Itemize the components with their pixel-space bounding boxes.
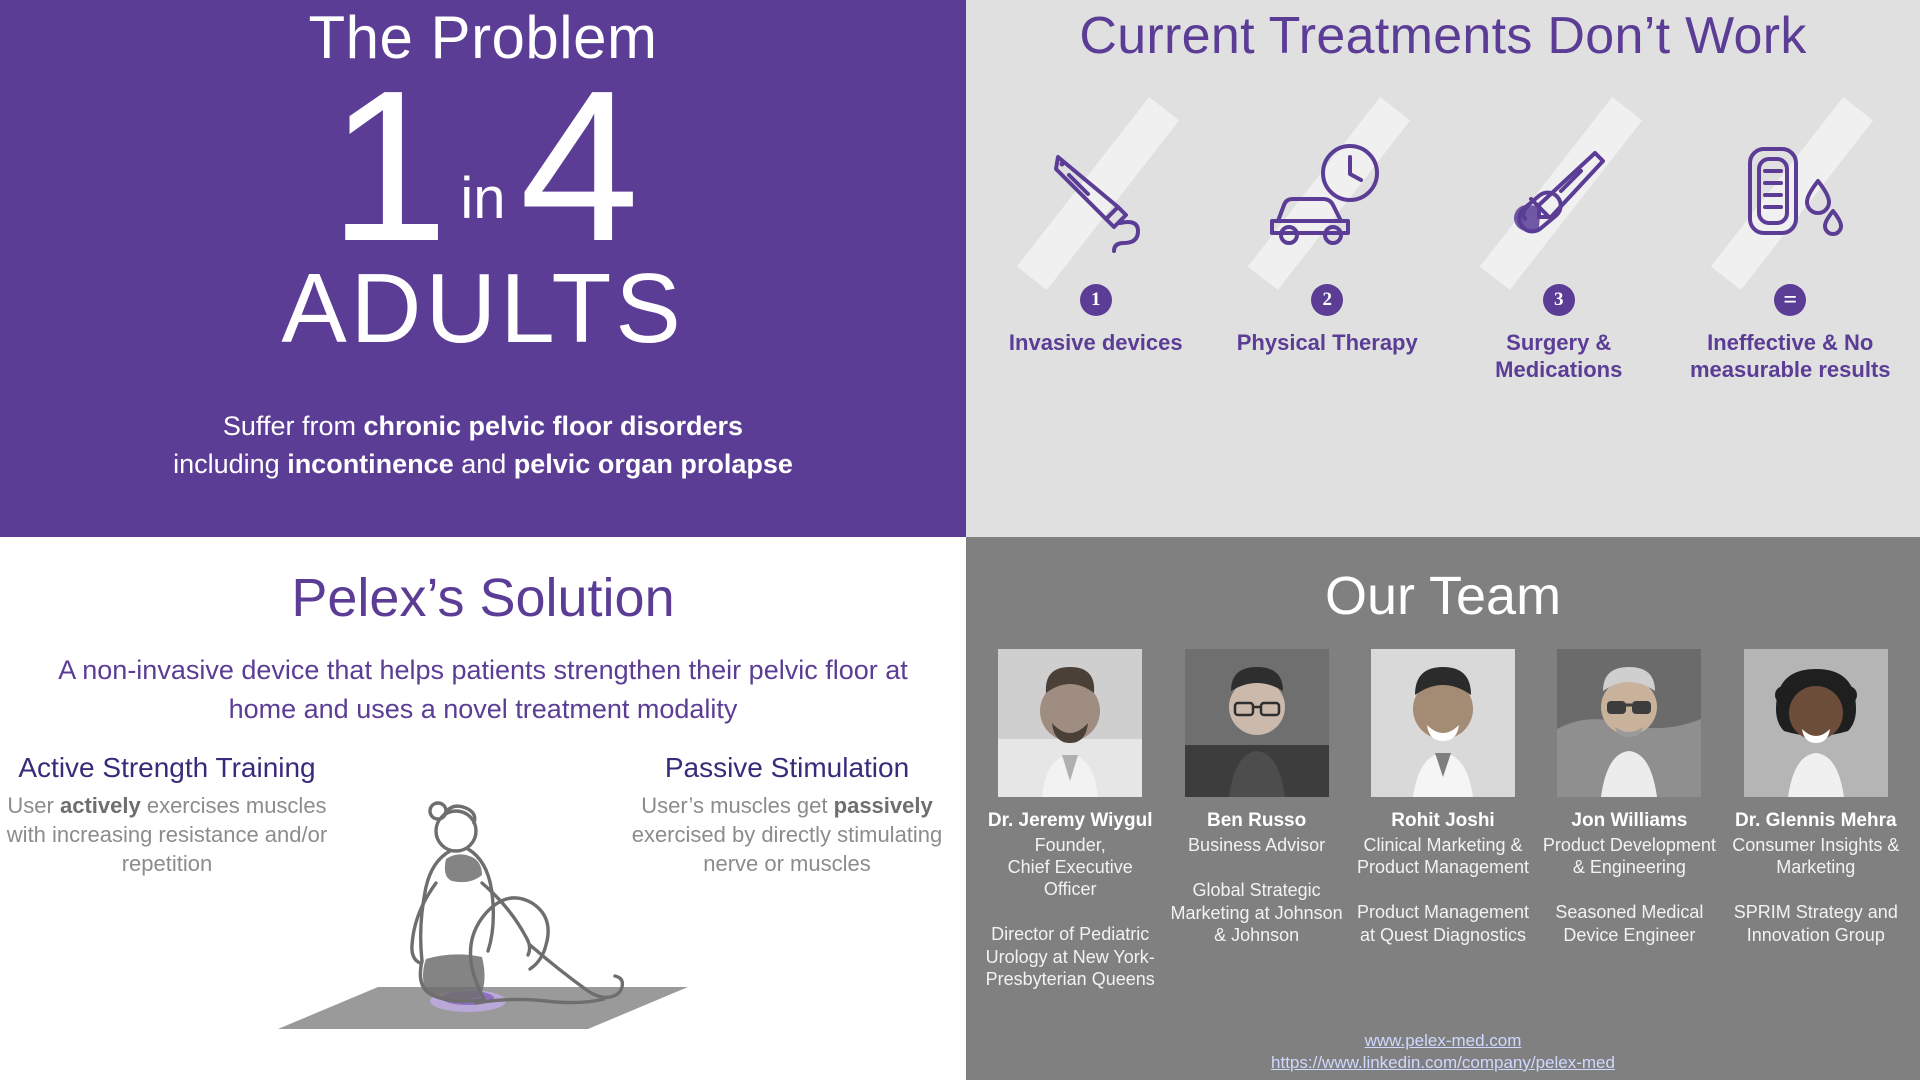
avatar — [1557, 649, 1701, 797]
scalpel-pills-icon — [1499, 137, 1619, 257]
stat-numerator: 1 — [329, 75, 447, 258]
team-title: Our Team — [1325, 565, 1561, 627]
avatar — [1744, 649, 1888, 797]
pad-drops-icon — [1728, 137, 1853, 257]
team-member-bio: Global Strategic Marketing at Johnson & … — [1168, 879, 1344, 946]
team-member-role: Consumer Insights & Marketing — [1728, 835, 1904, 879]
team-member-name: Jon Williams — [1571, 810, 1687, 832]
portrait-photo-icon — [1185, 649, 1329, 797]
problem-subtitle-pre: Suffer from — [223, 411, 364, 441]
portrait-photo-icon — [1557, 649, 1701, 797]
team-member: Jon Williams Product Development & Engin… — [1541, 649, 1717, 990]
probe-device-icon — [1036, 137, 1156, 257]
treatment-label: Ineffective & No measurable results — [1685, 330, 1895, 384]
treatment-badge: = — [1774, 284, 1806, 316]
car-clock-icon — [1262, 137, 1392, 257]
body-pre: User — [7, 793, 60, 818]
treatment-item-ineffective: = Ineffective & No measurable results — [1675, 122, 1907, 384]
treatment-item-surgery-medications: 3 Surgery & Medications — [1443, 122, 1675, 384]
team-member: Ben Russo Business Advisor Global Strate… — [1168, 649, 1344, 990]
website-link[interactable]: www.pelex-med.com — [966, 1030, 1920, 1052]
treatment-icon-wrap — [1232, 122, 1422, 272]
team-member: Dr. Jeremy Wiygul Founder, Chief Executi… — [982, 649, 1158, 990]
portrait-photo-icon — [998, 649, 1142, 797]
treatments-grid: 1 Invasive devices — [966, 122, 1920, 384]
treatments-title: Current Treatments Don’t Work — [1079, 6, 1806, 66]
treatment-item-invasive-devices: 1 Invasive devices — [980, 122, 1212, 384]
portrait-photo-icon — [1744, 649, 1888, 797]
panel-the-problem: The Problem 1 in 4 ADULTS Suffer from ch… — [0, 0, 966, 537]
treatment-badge: 3 — [1543, 284, 1575, 316]
panel-pelex-solution: Pelex’s Solution A non-invasive device t… — [0, 537, 966, 1080]
treatment-item-physical-therapy: 2 Physical Therapy — [1212, 122, 1444, 384]
problem-subtitle: Suffer from chronic pelvic floor disorde… — [173, 407, 793, 484]
treatment-icon-wrap — [1695, 122, 1885, 272]
team-member: Rohit Joshi Clinical Marketing & Product… — [1355, 649, 1531, 990]
treatment-label: Physical Therapy — [1237, 330, 1418, 357]
treatment-label: Surgery & Medications — [1454, 330, 1664, 384]
team-grid: Dr. Jeremy Wiygul Founder, Chief Executi… — [966, 649, 1920, 990]
stat-unit-label: ADULTS — [281, 252, 684, 365]
linkedin-link[interactable]: https://www.linkedin.com/company/pelex-m… — [966, 1052, 1920, 1074]
team-member-bio: SPRIM Strategy and Innovation Group — [1728, 901, 1904, 946]
avatar — [1371, 649, 1515, 797]
team-member-bio: Seasoned Medical Device Engineer — [1541, 901, 1717, 946]
problem-statistic: 1 in 4 — [329, 75, 637, 258]
problem-subtitle-bold-1: chronic pelvic floor disorders — [363, 411, 743, 441]
body-bold: actively — [60, 793, 141, 818]
team-member-role: Clinical Marketing & Product Management — [1355, 835, 1531, 879]
treatment-label: Invasive devices — [1009, 330, 1183, 357]
team-member-bio: Director of Pediatric Urology at New Yor… — [982, 923, 1158, 990]
team-member-role: Product Development & Engineering — [1541, 835, 1717, 879]
problem-subtitle-mid: and — [454, 449, 514, 479]
panel-current-treatments: Current Treatments Don’t Work — [966, 0, 1920, 537]
team-member-name: Rohit Joshi — [1391, 810, 1494, 832]
team-member: Dr. Glennis Mehra Consumer Insights & Ma… — [1728, 649, 1904, 990]
team-member-name: Dr. Jeremy Wiygul — [988, 810, 1153, 832]
treatment-icon-wrap — [1001, 122, 1191, 272]
treatment-icon-wrap — [1464, 122, 1654, 272]
stat-denominator: 4 — [520, 75, 638, 258]
treatment-badge: 2 — [1311, 284, 1343, 316]
team-member-role: Business Advisor — [1188, 835, 1325, 857]
panel-our-team: Our Team Dr. Jeremy Wiygul Founder, Chi — [966, 537, 1920, 1080]
solution-title: Pelex’s Solution — [291, 567, 674, 629]
portrait-photo-icon — [1371, 649, 1515, 797]
woman-seated-exercise-illustration — [268, 779, 698, 1049]
team-member-name: Ben Russo — [1207, 810, 1306, 832]
solution-columns: Active Strength Training User actively e… — [0, 751, 966, 1080]
problem-subtitle-line2-pre: including — [173, 449, 287, 479]
avatar — [998, 649, 1142, 797]
problem-subtitle-bold-3: pelvic organ prolapse — [514, 449, 793, 479]
infographic-poster: The Problem 1 in 4 ADULTS Suffer from ch… — [0, 0, 1920, 1080]
footer-links: www.pelex-med.com https://www.linkedin.c… — [966, 1030, 1920, 1074]
body-bold: passively — [834, 793, 933, 818]
avatar — [1185, 649, 1329, 797]
stat-in-word: in — [446, 174, 519, 257]
team-member-name: Dr. Glennis Mehra — [1735, 810, 1897, 832]
team-member-role: Founder, Chief Executive Officer — [982, 835, 1158, 901]
team-member-bio: Product Management at Quest Diagnostics — [1355, 901, 1531, 946]
treatment-badge: 1 — [1080, 284, 1112, 316]
solution-description: A non-invasive device that helps patient… — [28, 651, 938, 729]
problem-subtitle-bold-2: incontinence — [287, 449, 454, 479]
